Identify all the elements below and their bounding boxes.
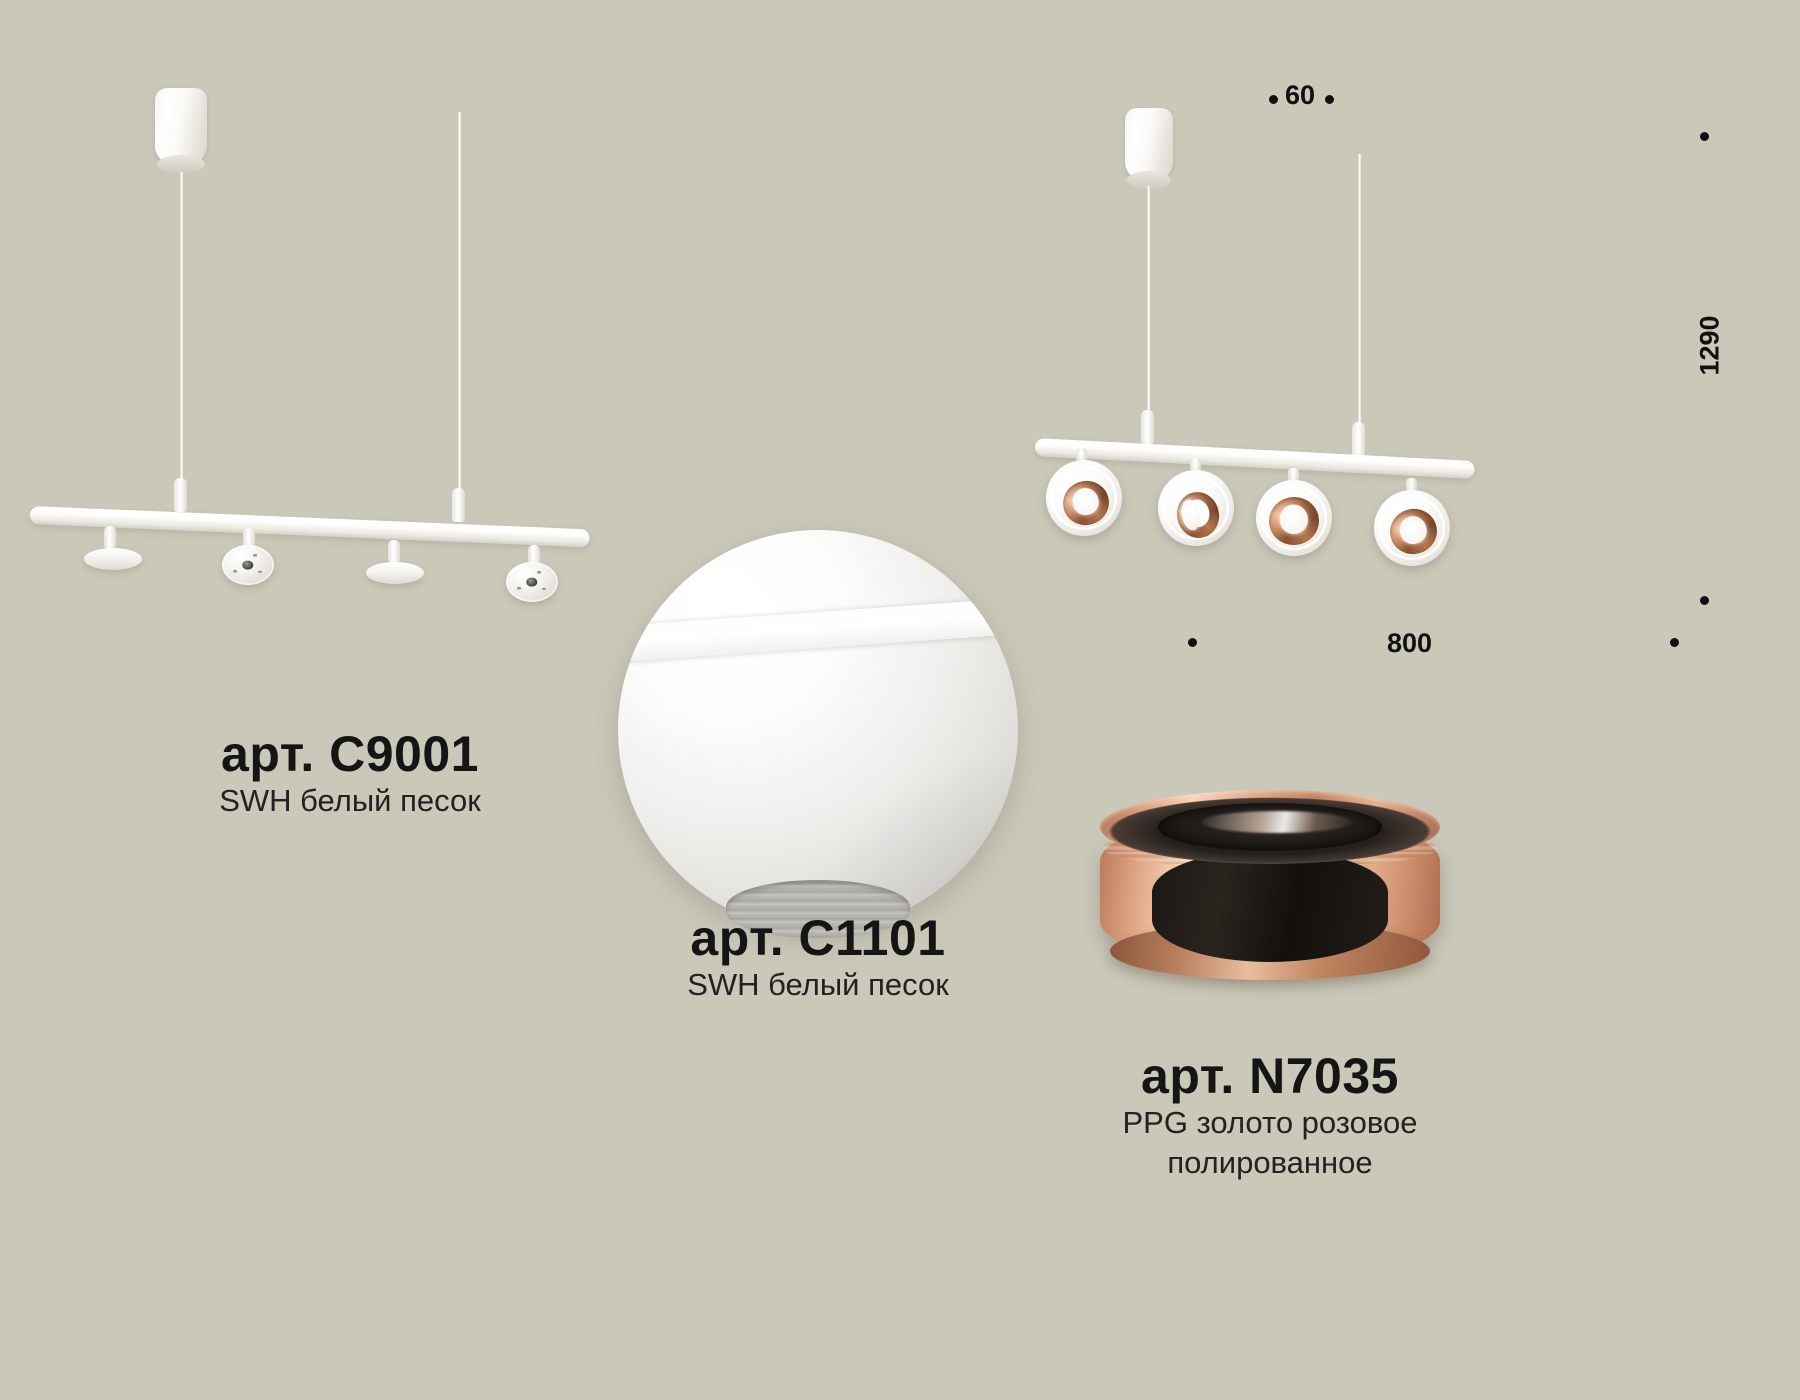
dim-dot-1290-top <box>1700 132 1709 141</box>
ceiling-canopy-icon <box>155 88 207 166</box>
dim-label-suspension-height: 1290 <box>1695 306 1726 386</box>
sphere-shading <box>618 530 1018 930</box>
product-illustration-n7035 <box>1100 790 1440 1020</box>
spot-screw-4c <box>542 588 546 591</box>
spot-plate-1 <box>84 548 142 570</box>
assembly-spot-head-3 <box>1256 480 1332 556</box>
bar-riser-right <box>452 488 465 522</box>
assembly-cable-left <box>1147 186 1150 418</box>
assembly-ceiling-canopy-icon <box>1125 108 1173 182</box>
product-label-c1101: арт. C1101 SWH белый песок <box>608 912 1028 1005</box>
assembly-spot-bulb-1 <box>1070 487 1102 519</box>
suspension-cable-right <box>458 112 461 494</box>
dim-dot-1290-bottom <box>1700 596 1709 605</box>
product-label-c9001: арт. C9001 SWH белый песок <box>140 728 560 821</box>
dim-label-bar-length: 800 <box>1387 628 1432 659</box>
sphere-shade-body <box>618 530 1018 930</box>
suspension-cable-left <box>180 172 183 484</box>
ring-top-aperture <box>1100 790 1440 864</box>
assembly-riser-right <box>1352 422 1365 456</box>
product-label-n7035: арт. N7035 PPG золото розовое полированн… <box>1060 1050 1480 1183</box>
spot-hub-4 <box>526 578 537 587</box>
product-finish-n7035-line2: полированное <box>1060 1143 1480 1183</box>
dim-label-canopy-diameter: 60 <box>1285 80 1315 111</box>
product-code-n7035: арт. N7035 <box>1060 1050 1480 1103</box>
product-illustration-c9001 <box>0 0 720 700</box>
spot-screw-4a <box>537 571 541 574</box>
spot-screw-4b <box>517 587 521 590</box>
bar-riser-left <box>174 478 187 512</box>
product-code-c1101: арт. C1101 <box>608 912 1028 965</box>
product-finish-c1101: SWH белый песок <box>608 965 1028 1005</box>
assembly-spot-bulb-2 <box>1179 498 1203 531</box>
dim-dot-60-right <box>1325 95 1334 104</box>
spot-disc-2 <box>222 545 274 585</box>
dim-dot-800-right <box>1670 638 1679 647</box>
spot-screw-2b <box>233 570 237 573</box>
spot-arm-3 <box>388 540 400 564</box>
assembly-spot-head-4 <box>1374 490 1450 566</box>
assembly-riser-left <box>1141 410 1154 444</box>
ring-specular-highlight <box>1202 811 1352 833</box>
spot-screw-2c <box>258 571 262 574</box>
dim-dot-60-left <box>1269 95 1278 104</box>
spot-arm-1 <box>104 526 116 550</box>
ring-inner-wall <box>1152 850 1388 962</box>
assembly-spot-bulb-4 <box>1397 515 1429 547</box>
product-finish-n7035-line1: PPG золото розовое <box>1060 1103 1480 1143</box>
spot-disc-4 <box>506 562 558 602</box>
product-code-c9001: арт. C9001 <box>140 728 560 781</box>
assembly-spot-bulb-3 <box>1279 505 1310 536</box>
assembly-cable-right <box>1358 154 1361 428</box>
product-illustration-c1101 <box>618 530 1018 930</box>
product-finish-c9001: SWH белый песок <box>140 781 560 821</box>
assembly-spot-head-1 <box>1046 460 1122 536</box>
illustration-canvas: арт. C9001 SWH белый песок арт. C1101 SW… <box>0 0 1800 1400</box>
spot-plate-3 <box>366 562 424 584</box>
assembly-spot-head-2 <box>1158 470 1234 546</box>
dim-dot-800-left <box>1188 638 1197 647</box>
assembly-illustration <box>1150 90 1710 650</box>
spot-hub-2 <box>242 561 253 570</box>
spot-screw-2a <box>253 554 257 557</box>
